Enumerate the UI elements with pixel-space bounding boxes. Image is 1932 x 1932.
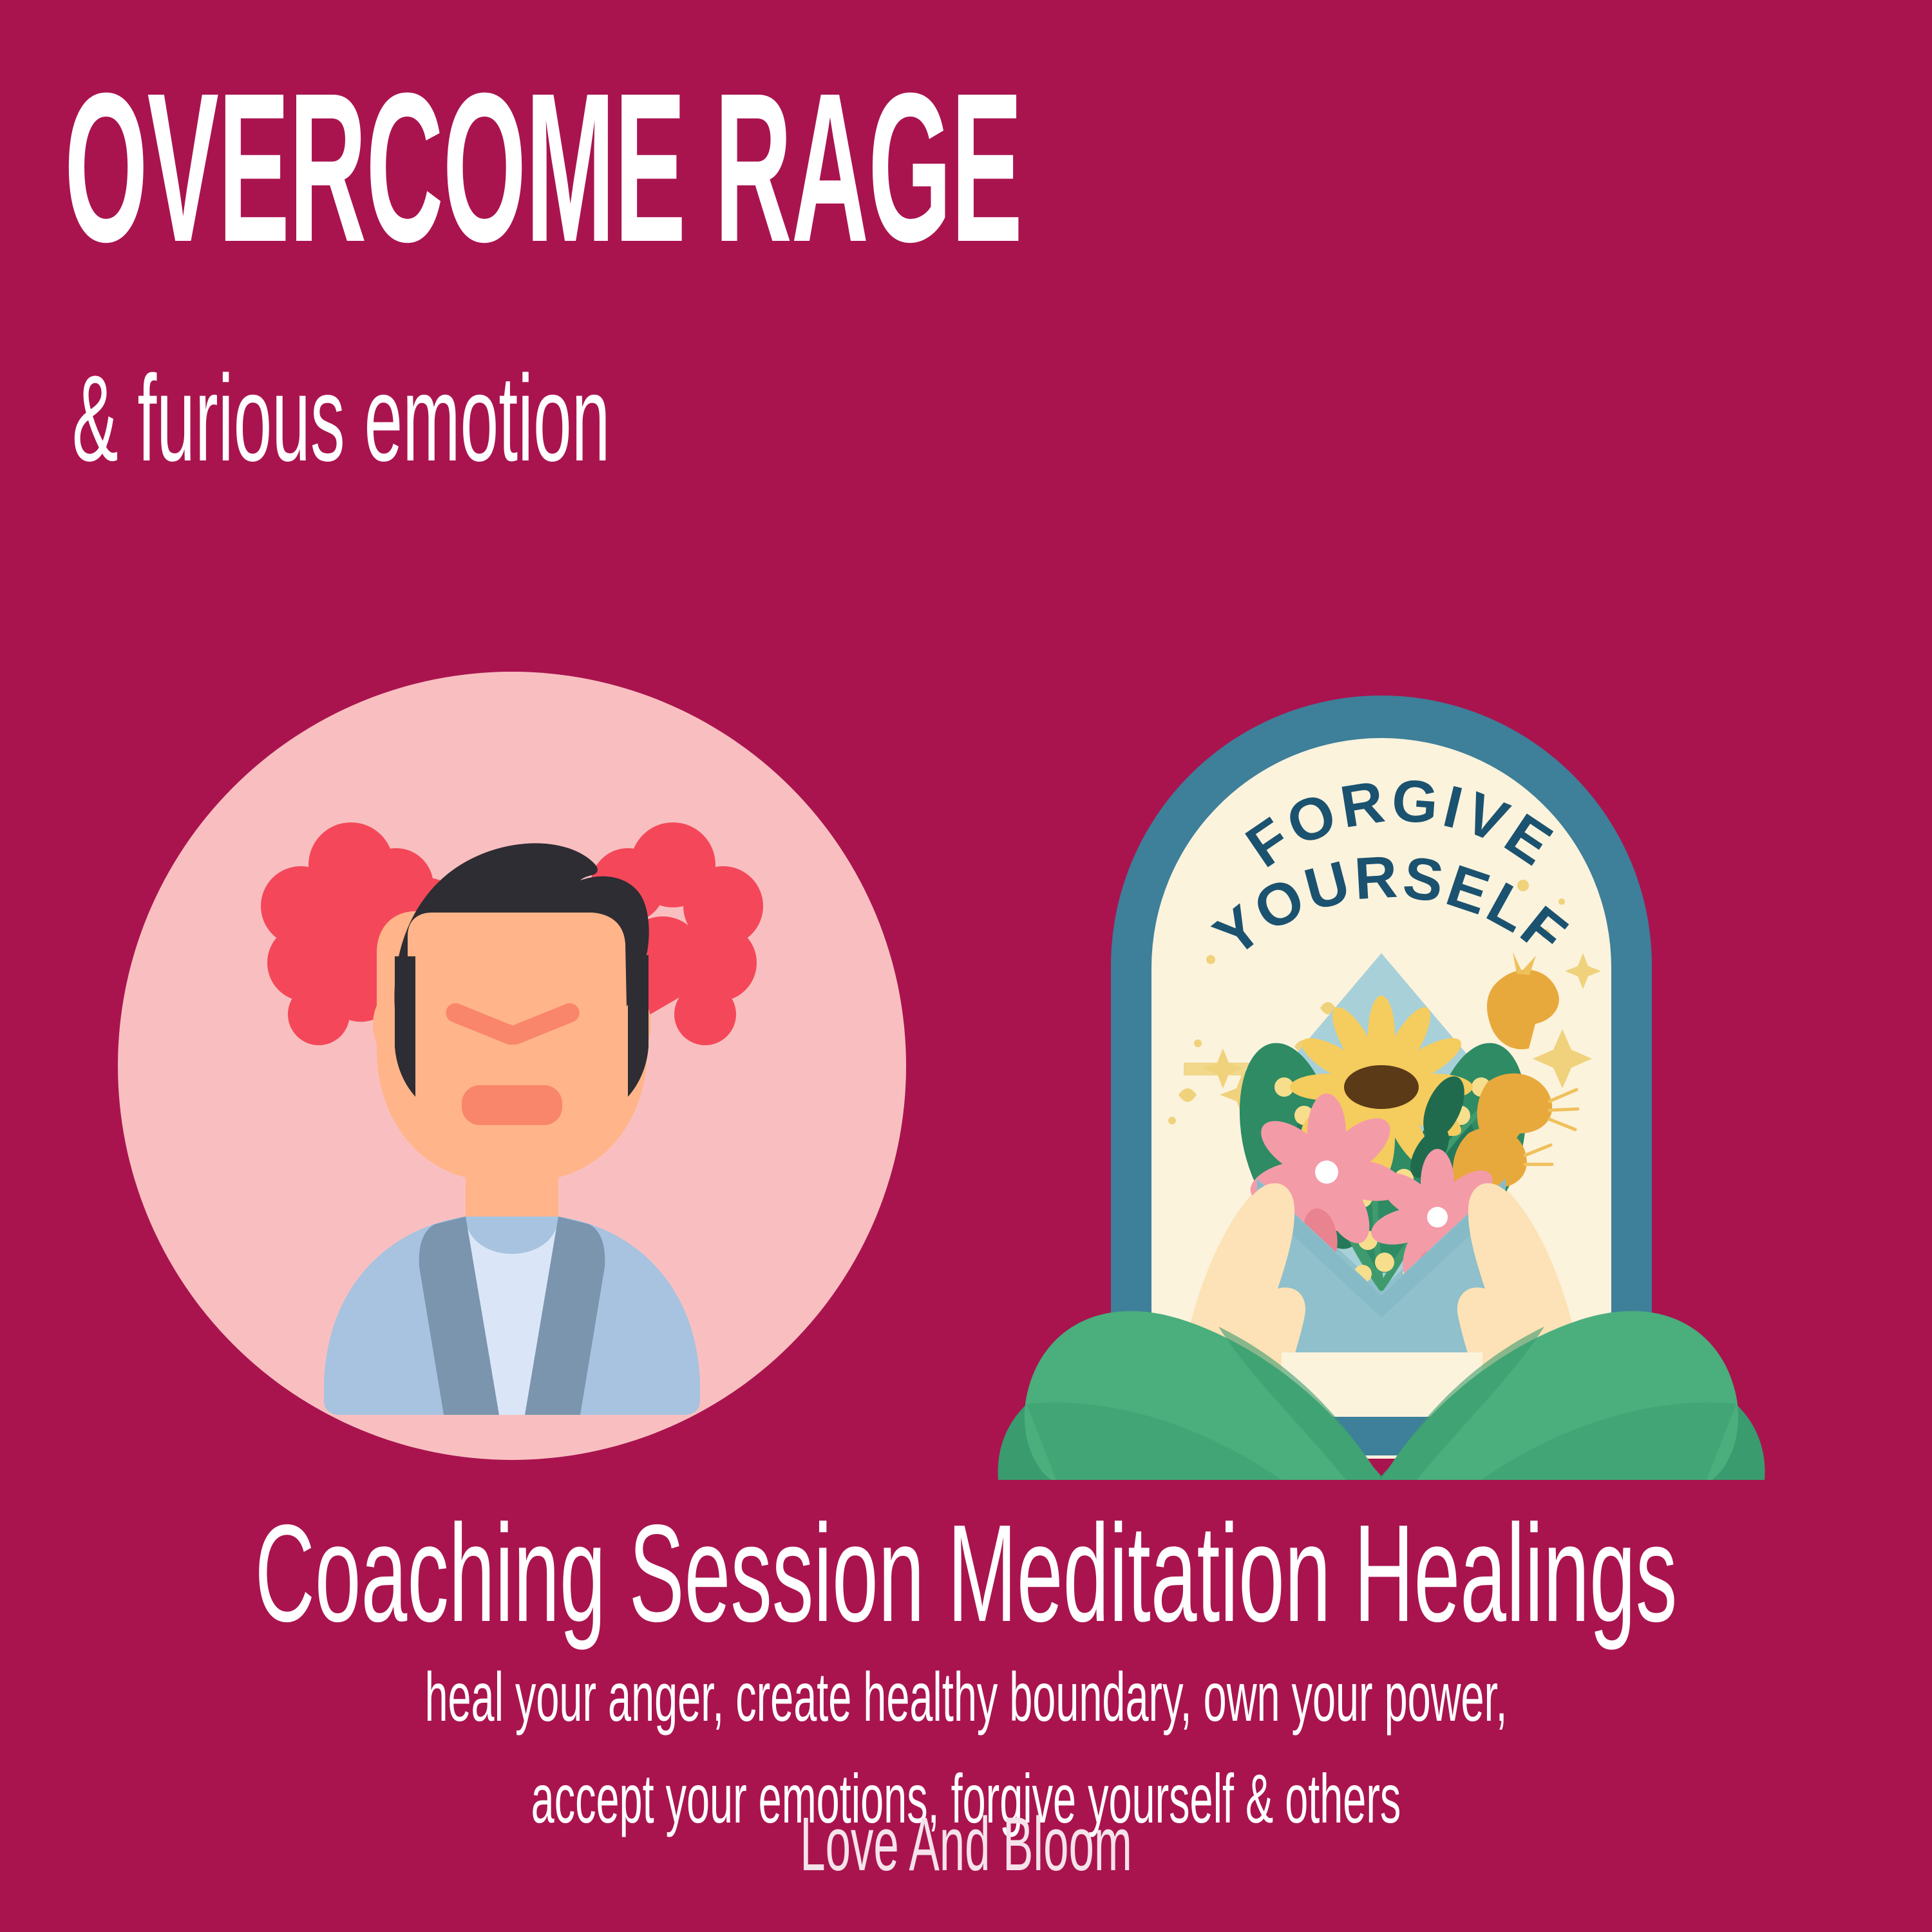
forgive-yourself-illustration: FORGIVE YOURSELF [979,683,1784,1488]
series-title: Coaching Session Meditation Healings [255,1504,1678,1642]
author-name: Love And Bloom [800,1806,1132,1882]
angry-mouth [462,1085,562,1125]
description-line-1: heal your anger, create healthy boundary… [424,1646,1507,1748]
audiobook-cover: OVERCOME RAGE & furious emotion FINDING … [0,0,1932,1932]
cover-title-line2: & furious emotion [72,357,610,480]
cover-title-line1: OVERCOME RAGE [64,76,1022,259]
angry-man-illustration [113,667,911,1465]
